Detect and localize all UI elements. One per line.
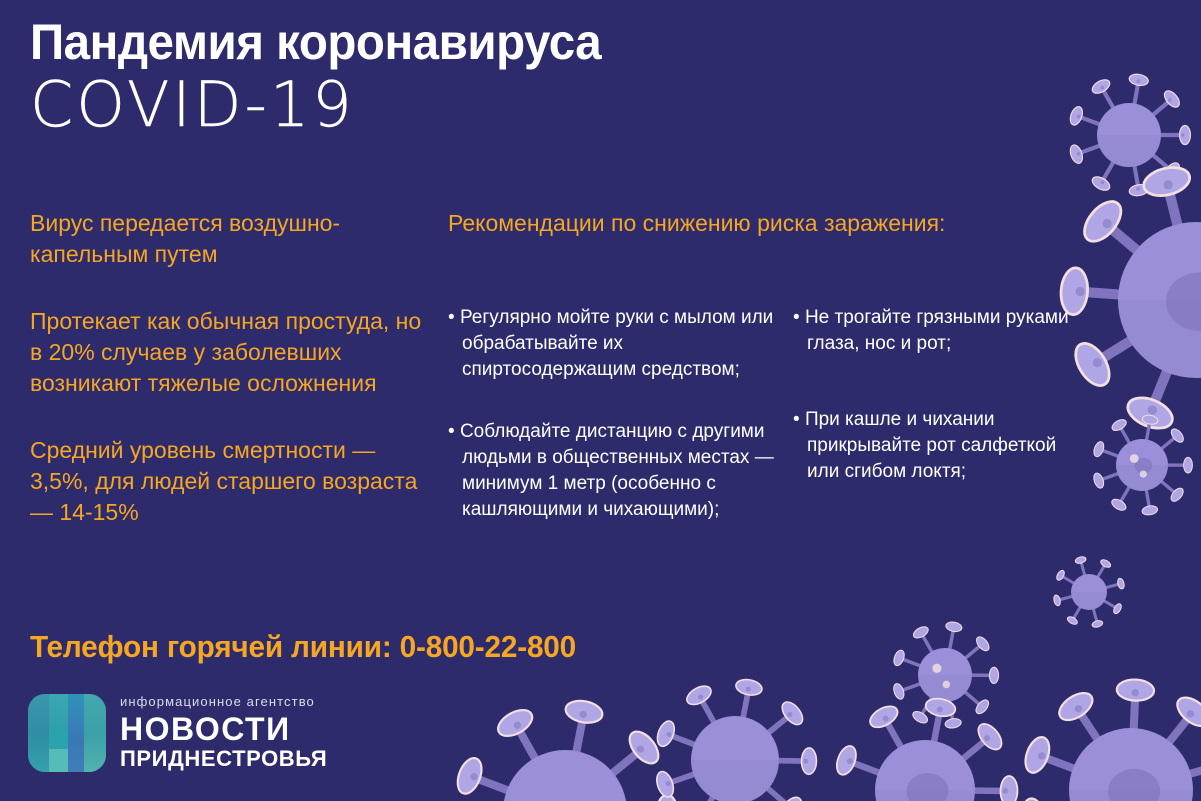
list-item: Не трогайте грязными руками глаза, нос и… xyxy=(793,305,1073,357)
logo-subtitle: ПРИДНЕСТРОВЬЯ xyxy=(120,746,327,772)
list-item: Соблюдайте дистанцию с другими людьми в … xyxy=(448,419,793,523)
recommendations-column-1: Регулярно мойте руки с мылом или обрабат… xyxy=(448,305,793,559)
list-item: Регулярно мойте руки с мылом или обрабат… xyxy=(448,305,793,383)
page-subtitle: COVID-19 xyxy=(30,72,631,138)
recommendations-column-2: Не трогайте грязными руками глаза, нос и… xyxy=(793,305,1073,535)
page-title: Пандемия коронавируса xyxy=(30,14,601,70)
recommendations-heading: Рекомендации по снижению риска заражения… xyxy=(448,208,968,239)
list-item: При кашле и чихании прикрывайте рот салф… xyxy=(793,407,1073,485)
logo-kicker: информационное агентство xyxy=(120,695,327,708)
poster-header: Пандемия коронавируса COVID-19 xyxy=(30,14,631,138)
fact-item: Вирус передается воздушно-капельным путе… xyxy=(30,208,430,270)
facts-column: Вирус передается воздушно-капельным путе… xyxy=(30,208,430,528)
logo-text-block: информационное агентство НОВОСТИ ПРИДНЕС… xyxy=(120,695,327,772)
hotline-phone-number: Телефон горячей линии: 0-800-22-800 xyxy=(30,628,576,666)
fact-item: Протекает как обычная простуда, но в 20%… xyxy=(30,306,430,399)
news-agency-logo[interactable]: информационное агентство НОВОСТИ ПРИДНЕС… xyxy=(28,694,327,772)
fact-item: Средний уровень смертности — 3,5%, для л… xyxy=(30,435,430,528)
logo-title: НОВОСТИ xyxy=(120,712,327,746)
news-agency-logo-mark-icon xyxy=(28,694,106,772)
covid-infographic-poster: Пандемия коронавируса COVID-19 Вирус пер… xyxy=(0,0,1201,801)
